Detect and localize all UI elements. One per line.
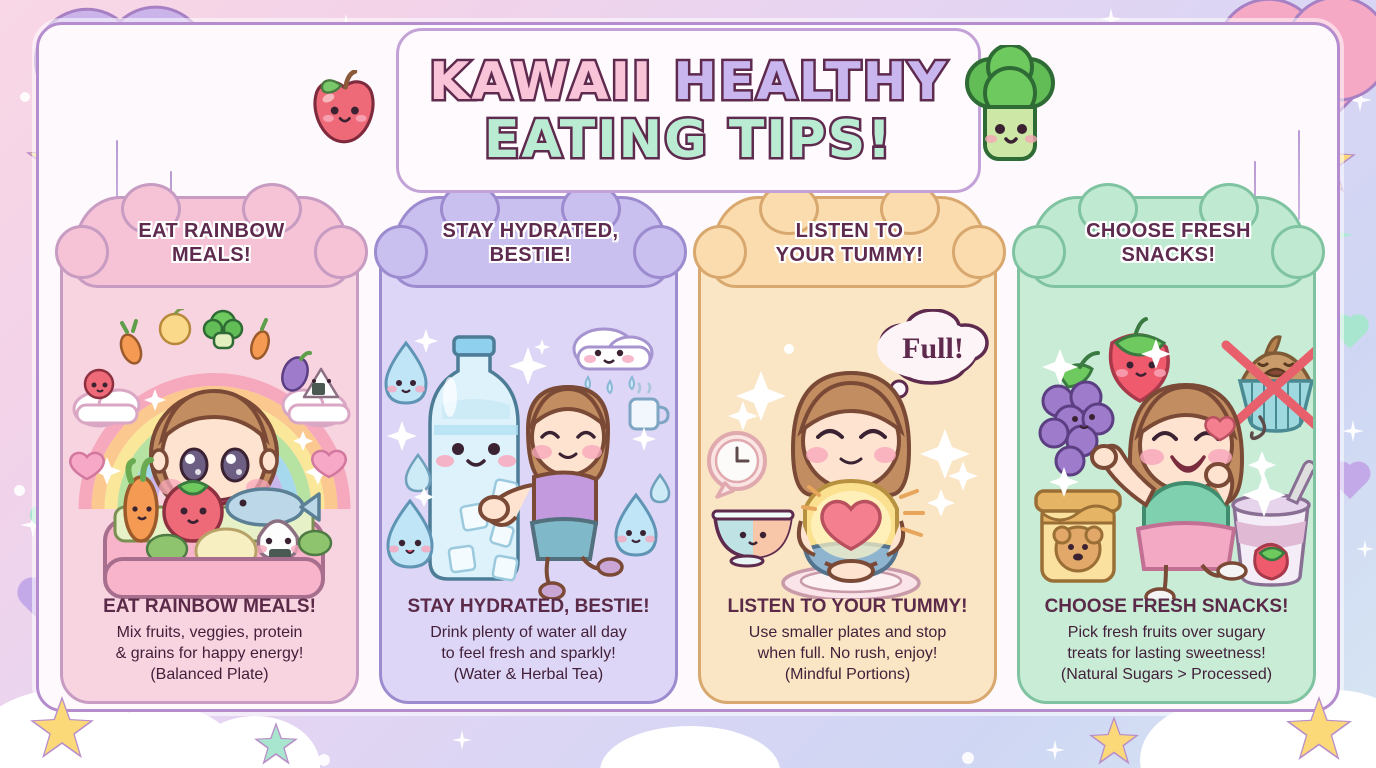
carrot-icon: [248, 320, 272, 361]
card-body-line-2: & grains for happy energy!: [73, 643, 346, 664]
water-droplet-small: [406, 455, 430, 491]
card-body-line-1: Use smaller plates and stop: [711, 622, 984, 643]
sparkle-icon: [1348, 88, 1372, 112]
water-droplet-small: [651, 475, 669, 502]
cupcake-crossed-out-icon: [1226, 337, 1313, 431]
star-mint-icon: [258, 726, 294, 762]
title-word-kawaii: KAWAII: [429, 52, 653, 112]
card-heading: EAT RAINBOW MEALS!: [73, 595, 346, 618]
rain-cloud-icon: [574, 329, 652, 393]
card-body-line-3: (Mindful Portions): [711, 664, 984, 685]
apple-icon: [305, 70, 383, 148]
eggplant-icon: [278, 353, 312, 394]
honey-jar-icon: [1036, 491, 1120, 581]
card-tab-title-line-2: BESTIE!: [442, 243, 618, 267]
tip-card-eat-rainbow-meals[interactable]: EAT RAINBOW MEALS! Mix fruits, veggies, …: [60, 196, 359, 704]
card-body-line-2: treats for lasting sweetness!: [1030, 643, 1303, 664]
tip-card-choose-fresh-snacks[interactable]: CHOOSE FRESH SNACKS! Pick fresh fruits o…: [1017, 196, 1316, 704]
card-caption: EAT RAINBOW MEALS! Mix fruits, veggies, …: [73, 595, 346, 685]
card-tab-title-line-2: MEALS!: [138, 243, 284, 267]
carrot-icon: [117, 321, 145, 366]
dot-decoration: [14, 485, 25, 496]
poster-title-banner: KAWAII HEALTHY EATING TIPS!: [396, 28, 981, 193]
card-tab-title-line-2: SNACKS!: [1086, 243, 1251, 267]
broccoli-icon: [955, 45, 1065, 180]
card-tab-title-line-1: CHOOSE FRESH: [1086, 219, 1251, 243]
dot-decoration: [962, 752, 974, 764]
card-tab-title-line-2: YOUR TUMMY!: [776, 243, 924, 267]
card-tab: CHOOSE FRESH SNACKS!: [1031, 196, 1306, 288]
onigiri-icon: [304, 369, 338, 397]
water-droplet-icon: [388, 501, 432, 567]
star-yellow-icon: [1093, 720, 1135, 762]
broccoli-icon: [204, 311, 242, 348]
water-droplet-icon: [386, 343, 426, 403]
tomato-icon: [85, 370, 113, 398]
title-word-healthy: HEALTHY: [673, 52, 947, 112]
card-body: CHOOSE FRESH SNACKS! Pick fresh fruits o…: [1017, 228, 1316, 704]
water-droplet-icon: [616, 495, 656, 555]
card-heading: CHOOSE FRESH SNACKS!: [1030, 595, 1303, 618]
sparkle-icon: [1342, 420, 1364, 442]
sparkle-icon: [1045, 740, 1065, 760]
card-caption: STAY HYDRATED, BESTIE! Drink plenty of w…: [392, 595, 665, 685]
card-caption: CHOOSE FRESH SNACKS! Pick fresh fruits o…: [1030, 595, 1303, 685]
title-line-2: EATING TIPS!: [484, 111, 893, 169]
card-tab-title-line-1: EAT RAINBOW: [138, 219, 284, 243]
cloud-bottom-left-3: [190, 716, 320, 768]
card-body: Full!: [698, 228, 997, 704]
illustration-girl-hugging-water-bottle: [382, 309, 675, 599]
orange-icon: [160, 309, 190, 344]
title-line-eating-tips: EATING TIPS!: [484, 110, 893, 170]
sparkle-icon: [1356, 540, 1374, 558]
card-body: EAT RAINBOW MEALS! Mix fruits, veggies, …: [60, 228, 359, 704]
card-body-line-2: when full. No rush, enjoy!: [711, 643, 984, 664]
sparkle-icon: [452, 730, 472, 750]
card-body-line-3: (Water & Herbal Tea): [392, 664, 665, 685]
card-tab-title-line-1: LISTEN TO: [776, 219, 924, 243]
tip-card-stay-hydrated-bestie[interactable]: STAY HYDRATED, BESTIE! Drink plenty of w…: [379, 196, 678, 704]
tips-card-row: EAT RAINBOW MEALS! Mix fruits, veggies, …: [60, 196, 1316, 706]
illustration-girl-with-bento-box: [63, 309, 356, 599]
dot-decoration: [20, 92, 30, 102]
card-tab: EAT RAINBOW MEALS!: [74, 196, 349, 288]
title-line-1: KAWAII HEALTHY: [429, 53, 948, 111]
illustration-girl-holding-grapes: [1020, 309, 1313, 599]
card-tab-title-line-1: STAY HYDRATED,: [442, 219, 618, 243]
card-caption: LISTEN TO YOUR TUMMY! Use smaller plates…: [711, 595, 984, 685]
card-body-line-3: (Natural Sugars > Processed): [1030, 664, 1303, 685]
card-body-line-3: (Balanced Plate): [73, 664, 346, 685]
mug-icon: [630, 383, 668, 429]
bowl-icon: [713, 511, 793, 566]
card-heading: STAY HYDRATED, BESTIE!: [392, 595, 665, 618]
card-tab: LISTEN TO YOUR TUMMY!: [712, 196, 987, 288]
illustration-girl-meditating-with-heart: Full!: [701, 309, 994, 599]
speech-text: Full!: [902, 332, 964, 365]
cloud-bottom-left-2: [90, 706, 240, 768]
tip-card-listen-to-your-tummy[interactable]: Full!: [698, 196, 997, 704]
card-body-line-1: Pick fresh fruits over sugary: [1030, 622, 1303, 643]
card-body: STAY HYDRATED, BESTIE! Drink plenty of w…: [379, 228, 678, 704]
card-body-line-2: to feel fresh and sparkly!: [392, 643, 665, 664]
girl-character: [793, 373, 909, 581]
card-body-line-1: Mix fruits, veggies, protein: [73, 622, 346, 643]
water-bottle: [430, 337, 518, 581]
dot-decoration: [318, 754, 330, 766]
clock-icon: [709, 433, 765, 497]
card-body-line-1: Drink plenty of water all day: [392, 622, 665, 643]
cloud-bottom-mid: [600, 726, 780, 768]
card-tab: STAY HYDRATED, BESTIE!: [393, 196, 668, 288]
card-heading: LISTEN TO YOUR TUMMY!: [711, 595, 984, 618]
